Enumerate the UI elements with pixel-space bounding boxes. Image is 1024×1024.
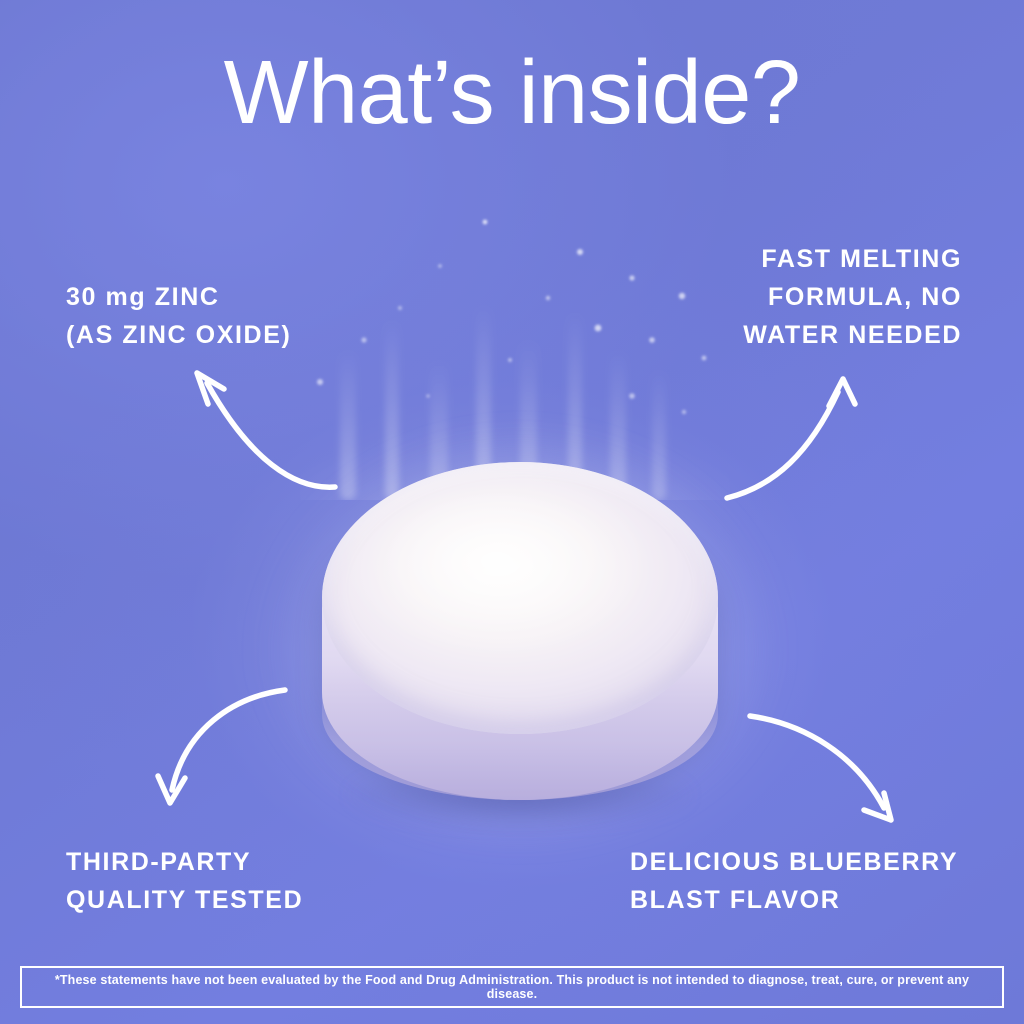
curved-arrow-down-right-icon [750,716,891,820]
curved-arrow-up-right-icon [727,379,855,498]
callout-label-fast-melting: FAST MELTING FORMULA, NO WATER NEEDED [743,240,962,354]
page-title: What’s inside? [0,46,1024,141]
product-infographic: What’s inside? [0,0,1024,1024]
disclaimer-box: *These statements have not been evaluate… [20,966,1004,1008]
callout-label-zinc: 30 mg ZINC (AS ZINC OXIDE) [66,278,291,354]
disclaimer-text: *These statements have not been evaluate… [22,973,1002,1001]
product-tablet [300,440,740,830]
curved-arrow-down-left-icon [158,690,285,803]
tablet-top-face [322,462,718,734]
callout-label-flavor: DELICIOUS BLUEBERRY BLAST FLAVOR [630,843,958,919]
callout-label-third-party: THIRD-PARTY QUALITY TESTED [66,843,303,919]
